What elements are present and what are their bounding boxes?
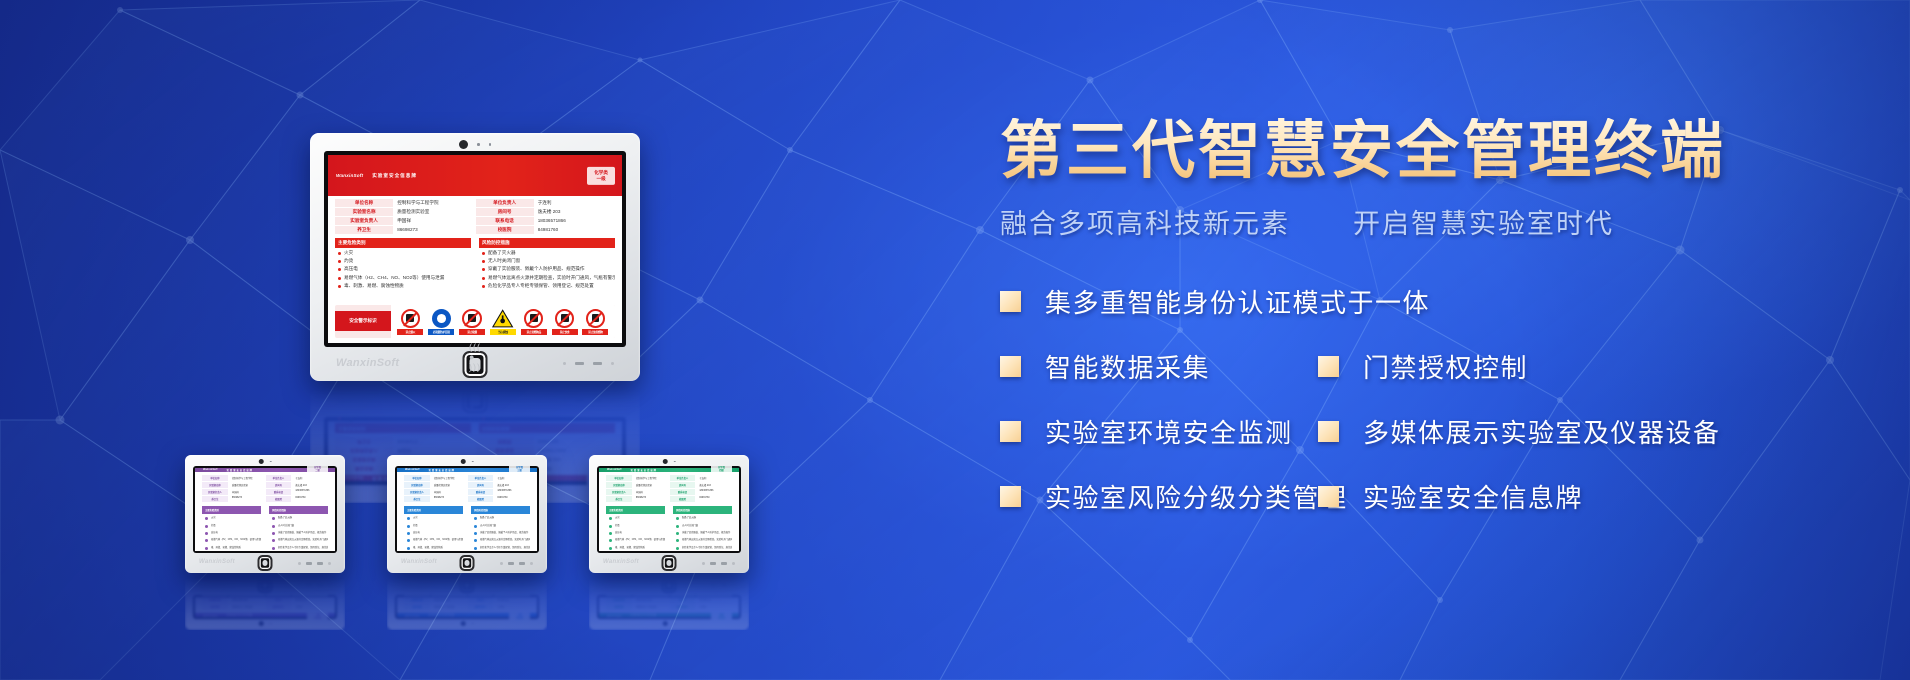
badge-category: 化学类 bbox=[718, 467, 725, 469]
table-key: 校医院 bbox=[670, 496, 696, 502]
list-bullet-icon bbox=[205, 539, 208, 542]
tablet-frame: WanxinSoft实验室安全信息牌化学类三级单位名称控制科学与工程学院单位负责… bbox=[387, 575, 547, 630]
list-item: 配备了灭火器 bbox=[673, 514, 732, 521]
prohibition-sign-icon bbox=[401, 309, 420, 328]
sign-caption: 必须戴防护目镜 bbox=[428, 329, 454, 335]
board-brand: WanxinSoft bbox=[203, 469, 218, 471]
table-key: 实验室负责人 bbox=[404, 489, 430, 495]
badge-category: 化学类 bbox=[516, 616, 523, 618]
nfc-indicator-icon: ((( ● ))) bbox=[469, 392, 481, 422]
list-bullet-icon bbox=[407, 547, 410, 550]
list-bullet-icon bbox=[407, 525, 410, 528]
table-key: 房间号 bbox=[468, 597, 494, 603]
column-title: 主要危险类别 bbox=[335, 423, 471, 433]
safety-board: WanxinSoft实验室安全信息牌化学类三级单位名称控制科学与工程学院单位负责… bbox=[397, 468, 537, 551]
list-bullet-icon bbox=[272, 525, 275, 528]
bezel-brand-logo: WanxinSoft bbox=[199, 559, 235, 565]
badge-level: 二级 bbox=[315, 470, 320, 472]
list-bullet-icon bbox=[609, 547, 612, 550]
table-value: 申国祥 bbox=[229, 595, 265, 596]
board-title: 实验室安全信息牌 bbox=[429, 468, 455, 472]
table-value: 控制科学与工程学院 bbox=[431, 475, 467, 481]
table-key: 联系电话 bbox=[476, 446, 534, 454]
list-item: 易燃气体远离点火源并定期检查，实验时开门通风，气瓶有警示、定期检查 bbox=[479, 273, 615, 281]
bezel-brand-logo: WanxinSoft bbox=[401, 583, 437, 589]
table-row: 实验室负责人申国祥联系电话18036571866 bbox=[202, 489, 328, 495]
safety-board: WanxinSoft实验室安全信息牌化学类二级单位名称控制科学与工程学院单位负责… bbox=[195, 468, 335, 551]
table-key: 实验室负责人 bbox=[606, 595, 632, 596]
list-bullet-icon bbox=[272, 517, 275, 520]
table-key: 实验室负责人 bbox=[202, 489, 228, 495]
badge-level: 一级 bbox=[597, 176, 606, 181]
front-camera bbox=[461, 621, 474, 626]
board-column: 主要危险类别火灾灼烫高压电易燃气体（H2、CH4、NO、NO2等）使用与泄漏毒、… bbox=[404, 506, 463, 551]
badge-level: 三级 bbox=[517, 613, 522, 615]
board-info-table: 单位名称控制科学与工程学院单位负责人于连利实验室名称质量检测实验室房间号逸夫楼 … bbox=[328, 196, 622, 236]
table-row: 实验室负责人申国祥联系电话18036571866 bbox=[335, 446, 615, 454]
bezel-brand-logo: WanxinSoft bbox=[336, 357, 399, 369]
list-bullet-icon bbox=[338, 277, 341, 280]
table-value: 于连利 bbox=[494, 604, 530, 610]
bullet-square-icon bbox=[1318, 356, 1339, 377]
sign-graphic bbox=[428, 308, 454, 329]
tablet-bottom-bezel: WanxinSoft bbox=[185, 575, 345, 595]
table-value: 逸夫楼 203 bbox=[292, 482, 328, 488]
tablet-screen[interactable]: WanxinSoft实验室安全信息牌化学类一级单位名称控制科学与工程学院单位负责… bbox=[324, 151, 626, 347]
list-bullet-icon bbox=[482, 277, 485, 280]
port-indicators bbox=[563, 362, 614, 365]
list-item: 无人时关闭门窗 bbox=[479, 257, 615, 265]
table-value: 于连利 bbox=[696, 604, 732, 610]
camera-lens-icon bbox=[259, 621, 264, 626]
table-key: 房间号 bbox=[670, 597, 696, 603]
column-title: 风险防控措施 bbox=[471, 506, 530, 514]
tablet-bottom-bezel: WanxinSoft ((( ● ))) bbox=[310, 383, 640, 417]
table-key: 实验室名称 bbox=[404, 597, 430, 603]
home-button[interactable] bbox=[460, 577, 475, 593]
badge-category: 化学类 bbox=[314, 467, 321, 469]
board-columns: 主要危险类别火灾灼烫高压电易燃气体（H2、CH4、NO、NO2等）使用与泄漏毒、… bbox=[328, 417, 622, 435]
table-key: 实验室名称 bbox=[202, 482, 228, 488]
board-level-badge: 化学类三级 bbox=[509, 466, 530, 476]
list-item: 毒、刺激、易燃、腐蚀性物质 bbox=[202, 544, 261, 551]
feature-item: 门禁授权控制 bbox=[1318, 348, 1528, 385]
table-value: 控制科学与工程学院 bbox=[431, 604, 467, 610]
table-value: 于连利 bbox=[535, 199, 615, 207]
safety-sign: 当心腐蚀 bbox=[490, 308, 516, 335]
board-columns: 主要危险类别火灾灼烫高压电易燃气体（H2、CH4、NO、NO2等）使用与泄漏毒、… bbox=[195, 504, 335, 551]
list-bullet-icon bbox=[482, 268, 485, 271]
feature-row: 集多重智能身份认证模式于一体 bbox=[1000, 283, 1880, 320]
list-bullet-icon bbox=[482, 417, 485, 420]
camera-lens-icon bbox=[459, 140, 468, 149]
board-title: 实验室安全信息牌 bbox=[631, 613, 657, 617]
thumbnail-tablet-3: WanxinSoft实验室安全信息牌化学类四级单位名称控制科学与工程学院单位负责… bbox=[589, 455, 749, 573]
list-item: 易燃气体远离点火源并定期检查，实验时开门通风，气瓶有警示、定期检查 bbox=[269, 536, 328, 543]
bullet-square-icon bbox=[1000, 421, 1021, 442]
table-row: 实验室负责人申国祥联系电话18036571866 bbox=[606, 595, 732, 596]
table-key: 房间号 bbox=[670, 482, 696, 488]
table-key: 校医院 bbox=[476, 437, 534, 445]
badge-level: 四级 bbox=[719, 613, 724, 615]
prohibition-sign-icon bbox=[586, 309, 605, 328]
table-row: 单位名称控制科学与工程学院单位负责人于连利 bbox=[606, 604, 732, 610]
table-key: 实验室负责人 bbox=[404, 595, 430, 596]
sensor-dot-icon bbox=[674, 461, 676, 463]
nfc-indicator-icon: ((( ● ))) bbox=[469, 342, 481, 372]
table-key: 单位名称 bbox=[202, 604, 228, 610]
tablet-frame: WanxinSoft实验室安全信息牌化学类三级单位名称控制科学与工程学院单位负责… bbox=[387, 455, 547, 573]
sensor-dot-icon bbox=[477, 143, 480, 146]
thumbnail-tablet-3-reflection: WanxinSoft实验室安全信息牌化学类四级单位名称控制科学与工程学院单位负责… bbox=[589, 575, 749, 630]
home-button[interactable] bbox=[460, 555, 475, 571]
table-row: 养卫生86698273校医院84981760 bbox=[335, 226, 615, 234]
board-info-table: 单位名称控制科学与工程学院单位负责人于连利实验室名称质量检测实验室房间号逸夫楼 … bbox=[195, 472, 335, 504]
table-key: 实验室负责人 bbox=[606, 489, 632, 495]
sign-caption: 禁止易燃物品 bbox=[521, 329, 547, 335]
bullet-square-icon bbox=[1000, 356, 1021, 377]
bullet-square-icon bbox=[1318, 421, 1339, 442]
column-title: 主要危险类别 bbox=[335, 238, 471, 248]
feature-row: 实验室环境安全监测 多媒体展示实验室及仪器设备 bbox=[1000, 413, 1880, 450]
tablet-frame: WanxinSoft实验室安全信息牌化学类二级单位名称控制科学与工程学院单位负责… bbox=[185, 455, 345, 573]
list-item: 火灾 bbox=[606, 514, 665, 521]
list-bullet-icon bbox=[609, 539, 612, 542]
table-key: 实验室名称 bbox=[606, 482, 632, 488]
list-item: 无人时关闭门窗 bbox=[673, 521, 732, 528]
board-title: 实验室安全信息牌 bbox=[631, 468, 657, 472]
badge-level: 四级 bbox=[719, 470, 724, 472]
sign-caption: 当心腐蚀 bbox=[490, 329, 516, 335]
port-indicators bbox=[298, 562, 331, 565]
list-item: 火灾 bbox=[404, 514, 463, 521]
sign-caption: 禁止烟火 bbox=[397, 329, 423, 335]
table-value: 质量检测实验室 bbox=[431, 597, 467, 603]
board-columns: 主要危险类别火灾灼烫高压电易燃气体（H2、CH4、NO、NO2等）使用与泄漏毒、… bbox=[328, 236, 622, 302]
table-key: 养卫生 bbox=[404, 496, 430, 502]
board-info-table: 单位名称控制科学与工程学院单位负责人于连利实验室名称质量检测实验室房间号逸夫楼 … bbox=[195, 595, 335, 613]
list-bullet-icon bbox=[338, 285, 341, 288]
table-value: 84981760 bbox=[535, 437, 615, 445]
bullet-square-icon bbox=[1000, 486, 1021, 507]
home-button[interactable] bbox=[258, 577, 273, 593]
safety-sign: 禁止放易燃物 bbox=[582, 308, 608, 335]
feature-label: 智能数据采集 bbox=[1045, 348, 1210, 385]
list-item: 配备了灭火器 bbox=[479, 417, 615, 423]
board-level-badge: 化学类一级 bbox=[587, 166, 615, 184]
badge-category: 化学类 bbox=[718, 616, 725, 618]
home-button[interactable] bbox=[662, 577, 677, 593]
safety-board: WanxinSoft实验室安全信息牌化学类四级单位名称控制科学与工程学院单位负责… bbox=[599, 468, 739, 551]
sensor-dot-icon bbox=[472, 461, 474, 463]
list-item: 易燃气体（H2、CH4、NO、NO2等）使用与泄漏 bbox=[335, 273, 471, 281]
list-bullet-icon bbox=[205, 532, 208, 535]
table-value: 申国祥 bbox=[431, 489, 467, 495]
list-bullet-icon bbox=[474, 525, 477, 528]
table-key: 联系电话 bbox=[468, 489, 494, 495]
list-item: 易燃气体远离点火源并定期检查，实验时开门通风，气瓶有警示、定期检查 bbox=[673, 536, 732, 543]
table-value: 84981760 bbox=[696, 496, 732, 502]
list-item: 毒、刺激、易燃、腐蚀性物质 bbox=[606, 544, 665, 551]
list-bullet-icon bbox=[272, 547, 275, 550]
table-key: 单位负责人 bbox=[468, 475, 494, 481]
column-title: 主要危险类别 bbox=[606, 506, 665, 514]
board-brand: WanxinSoft bbox=[405, 614, 420, 616]
safety-board: WanxinSoft实验室安全信息牌化学类一级单位名称控制科学与工程学院单位负责… bbox=[328, 155, 622, 343]
tablet-screen[interactable]: WanxinSoft实验室安全信息牌化学类四级单位名称控制科学与工程学院单位负责… bbox=[597, 466, 741, 553]
table-key: 房间号 bbox=[266, 482, 292, 488]
table-value: 质量检测实验室 bbox=[431, 482, 467, 488]
sensor-dot-icon bbox=[489, 143, 492, 146]
table-value: 质量检测实验室 bbox=[229, 597, 265, 603]
list-bullet-icon bbox=[482, 252, 485, 255]
table-value: 逸夫楼 203 bbox=[696, 597, 732, 603]
sign-graphic bbox=[552, 308, 578, 329]
table-value: 逸夫楼 203 bbox=[696, 482, 732, 488]
list-item: 穿戴了实验服装、佩戴个人防护用品、规范操作 bbox=[673, 529, 732, 536]
table-value: 逸夫楼 203 bbox=[494, 482, 530, 488]
table-row: 养卫生86698273校医院84981760 bbox=[606, 496, 732, 502]
list-bullet-icon bbox=[205, 525, 208, 528]
bezel-brand-logo: WanxinSoft bbox=[603, 583, 639, 589]
table-key: 单位名称 bbox=[606, 604, 632, 610]
list-item: 易燃气体（H2、CH4、NO、NO2等）使用与泄漏 bbox=[202, 536, 261, 543]
table-row: 单位名称控制科学与工程学院单位负责人于连利 bbox=[202, 604, 328, 610]
board-level-badge: 化学类二级 bbox=[307, 609, 328, 619]
tablet-screen[interactable]: WanxinSoft实验室安全信息牌化学类二级单位名称控制科学与工程学院单位负责… bbox=[193, 595, 337, 619]
home-button[interactable]: ((( ● ))) bbox=[463, 386, 488, 413]
column-title: 风险防控措施 bbox=[673, 506, 732, 514]
table-key: 实验室名称 bbox=[202, 597, 228, 603]
table-key: 单位名称 bbox=[202, 475, 228, 481]
feature-item: 多媒体展示实验室及仪器设备 bbox=[1318, 413, 1721, 450]
tablet-screen[interactable]: WanxinSoft实验室安全信息牌化学类二级单位名称控制科学与工程学院单位负责… bbox=[193, 466, 337, 553]
table-key: 养卫生 bbox=[335, 437, 393, 445]
table-row: 实验室负责人申国祥联系电话18036571866 bbox=[606, 489, 732, 495]
safety-sign: 禁止易燃物品 bbox=[521, 308, 547, 335]
table-value: 控制科学与工程学院 bbox=[229, 604, 265, 610]
list-bullet-icon bbox=[474, 539, 477, 542]
sign-caption: 禁止饮食 bbox=[552, 329, 578, 335]
list-bullet-icon bbox=[474, 547, 477, 550]
feature-label: 实验室风险分级分类管理 bbox=[1045, 478, 1348, 515]
sensor-dot-icon bbox=[472, 623, 474, 625]
board-title: 实验室安全信息牌 bbox=[227, 613, 253, 617]
prohibition-sign-icon bbox=[524, 309, 543, 328]
home-button[interactable] bbox=[258, 555, 273, 571]
tablet-bottom-bezel: WanxinSoft bbox=[185, 553, 345, 573]
list-bullet-icon bbox=[482, 285, 485, 288]
table-key: 实验室负责人 bbox=[335, 217, 393, 225]
list-item: 无人时关闭门窗 bbox=[269, 521, 328, 528]
table-value: 18036571866 bbox=[696, 595, 732, 596]
feature-item: 集多重智能身份认证模式于一体 bbox=[1000, 283, 1430, 320]
board-title: 实验室安全信息牌 bbox=[227, 468, 253, 472]
list-item: 易燃气体远离点火源并定期检查，实验时开门通风，气瓶有警示、定期检查 bbox=[471, 536, 530, 543]
camera-lens-icon bbox=[663, 459, 668, 464]
list-bullet-icon bbox=[338, 260, 341, 263]
feature-label: 多媒体展示实验室及仪器设备 bbox=[1363, 413, 1721, 450]
board-header: WanxinSoft实验室安全信息牌化学类三级 bbox=[397, 613, 537, 617]
feature-item: 实验室安全信息牌 bbox=[1318, 478, 1583, 515]
table-key: 养卫生 bbox=[606, 496, 632, 502]
table-value: 申国祥 bbox=[633, 489, 669, 495]
board-info-table: 单位名称控制科学与工程学院单位负责人于连利实验室名称质量检测实验室房间号逸夫楼 … bbox=[397, 595, 537, 613]
list-bullet-icon bbox=[205, 547, 208, 550]
list-bullet-icon bbox=[205, 517, 208, 520]
tablet-screen[interactable]: WanxinSoft实验室安全信息牌化学类四级单位名称控制科学与工程学院单位负责… bbox=[597, 595, 741, 619]
board-level-badge: 化学类四级 bbox=[711, 609, 732, 619]
board-level-badge: 化学类二级 bbox=[307, 466, 328, 476]
list-bullet-icon bbox=[676, 532, 679, 535]
tablet-frame: WanxinSoft实验室安全信息牌化学类四级单位名称控制科学与工程学院单位负责… bbox=[589, 575, 749, 630]
tablet-bottom-bezel: WanxinSoft bbox=[589, 575, 749, 595]
board-brand: WanxinSoft bbox=[405, 469, 420, 471]
list-bullet-icon bbox=[272, 532, 275, 535]
table-key: 实验室名称 bbox=[335, 208, 393, 216]
table-row: 实验室负责人申国祥联系电话18036571866 bbox=[335, 217, 615, 225]
table-key: 房间号 bbox=[266, 597, 292, 603]
list-item: 危险化学品专人专柜专锁保管、领用登记、规范处置 bbox=[471, 544, 530, 551]
front-camera bbox=[461, 459, 474, 464]
thumbnail-tablet-2-reflection: WanxinSoft实验室安全信息牌化学类三级单位名称控制科学与工程学院单位负责… bbox=[387, 575, 547, 630]
port-indicators bbox=[702, 583, 735, 586]
tablet-screen[interactable]: WanxinSoft实验室安全信息牌化学类三级单位名称控制科学与工程学院单位负责… bbox=[395, 595, 539, 619]
hero-banner: WanxinSoft实验室安全信息牌化学类一级单位名称控制科学与工程学院单位负责… bbox=[0, 0, 1910, 680]
safety-sign: 禁止烟火 bbox=[397, 308, 423, 335]
table-value: 于连利 bbox=[292, 604, 328, 610]
column-title: 风险防控措施 bbox=[269, 506, 328, 514]
table-key: 单位负责人 bbox=[476, 199, 534, 207]
table-value: 逸夫楼 203 bbox=[535, 208, 615, 216]
table-key: 联系电话 bbox=[670, 489, 696, 495]
safety-sign: 禁止吸烟 bbox=[459, 308, 485, 335]
list-item: 配备了灭火器 bbox=[471, 514, 530, 521]
table-key: 实验室负责人 bbox=[335, 446, 393, 454]
bullet-square-icon bbox=[1318, 486, 1339, 507]
list-item: 易燃气体（H2、CH4、NO、NO2等）使用与泄漏 bbox=[404, 536, 463, 543]
table-value: 逸夫楼 203 bbox=[494, 597, 530, 603]
camera-lens-icon bbox=[461, 621, 466, 626]
port-indicators bbox=[702, 562, 735, 565]
bezel-brand-logo: WanxinSoft bbox=[603, 559, 639, 565]
board-brand: WanxinSoft bbox=[607, 614, 622, 616]
bezel-brand-logo: WanxinSoft bbox=[336, 395, 399, 407]
board-header: WanxinSoft实验室安全信息牌化学类四级 bbox=[599, 613, 739, 617]
subtitle-right: 开启智慧实验室时代 bbox=[1353, 209, 1614, 239]
list-bullet-icon bbox=[482, 260, 485, 263]
list-item: 火灾 bbox=[335, 417, 471, 423]
table-value: 86698273 bbox=[431, 496, 467, 502]
table-value: 18036571866 bbox=[494, 595, 530, 596]
feature-item: 智能数据采集 bbox=[1000, 348, 1318, 385]
board-header: WanxinSoft实验室安全信息牌化学类三级 bbox=[397, 468, 537, 472]
table-key: 单位名称 bbox=[606, 475, 632, 481]
home-button[interactable]: ((( ● ))) bbox=[463, 351, 488, 378]
warning-triangle-icon bbox=[492, 309, 513, 328]
table-value: 18036571866 bbox=[535, 217, 615, 225]
board-column: 风险防控措施配备了灭火器无人时关闭门窗穿戴了实验服装、佩戴个人防护用品、规范操作… bbox=[479, 417, 615, 433]
list-item: 配备了灭火器 bbox=[269, 514, 328, 521]
thumbnail-tablet-1: WanxinSoft实验室安全信息牌化学类二级单位名称控制科学与工程学院单位负责… bbox=[185, 455, 345, 573]
list-item: 高压电 bbox=[606, 529, 665, 536]
list-item: 高压电 bbox=[404, 529, 463, 536]
board-column: 主要危险类别火灾灼烫高压电易燃气体（H2、CH4、NO、NO2等）使用与泄漏毒、… bbox=[335, 417, 471, 433]
list-bullet-icon bbox=[338, 268, 341, 271]
table-row: 实验室名称质量检测实验室房间号逸夫楼 203 bbox=[335, 208, 615, 216]
port-indicators bbox=[298, 583, 331, 586]
tablet-bottom-bezel: WanxinSoft bbox=[387, 575, 547, 595]
list-item: 毒、刺激、易燃、腐蚀性物质 bbox=[335, 282, 471, 290]
list-bullet-icon bbox=[407, 539, 410, 542]
board-columns: 主要危险类别火灾灼烫高压电易燃气体（H2、CH4、NO、NO2等）使用与泄漏毒、… bbox=[599, 504, 739, 551]
page-title: 第三代智慧安全管理终端 bbox=[1000, 118, 1880, 184]
table-value: 申国祥 bbox=[229, 489, 265, 495]
board-brand: WanxinSoft bbox=[336, 173, 363, 178]
table-value: 84981760 bbox=[535, 226, 615, 234]
table-value: 质量检测实验室 bbox=[229, 482, 265, 488]
list-item: 危险化学品专人专柜专锁保管、领用登记、规范处置 bbox=[269, 544, 328, 551]
sensor-dot-icon bbox=[270, 623, 272, 625]
table-key: 养卫生 bbox=[202, 496, 228, 502]
tablet-bottom-bezel: WanxinSoft bbox=[387, 553, 547, 573]
board-column: 风险防控措施配备了灭火器无人时关闭门窗穿戴了实验服装、佩戴个人防护用品、规范操作… bbox=[479, 238, 615, 302]
list-bullet-icon bbox=[676, 539, 679, 542]
table-key: 单位名称 bbox=[404, 475, 430, 481]
list-item: 穿戴了实验服装、佩戴个人防护用品、规范操作 bbox=[479, 265, 615, 273]
board-column: 主要危险类别火灾灼烫高压电易燃气体（H2、CH4、NO、NO2等）使用与泄漏毒、… bbox=[335, 238, 471, 302]
table-value: 控制科学与工程学院 bbox=[394, 199, 474, 207]
subtitle-left: 融合多项高科技新元素 bbox=[1000, 209, 1290, 239]
board-level-badge: 化学类三级 bbox=[509, 609, 530, 619]
list-item: 配备了灭火器 bbox=[479, 248, 615, 256]
port-indicators bbox=[563, 399, 614, 402]
table-value: 控制科学与工程学院 bbox=[229, 475, 265, 481]
feature-label: 门禁授权控制 bbox=[1363, 348, 1528, 385]
tablet-frame: WanxinSoft实验室安全信息牌化学类一级单位名称控制科学与工程学院单位负责… bbox=[310, 133, 640, 381]
board-column: 主要危险类别火灾灼烫高压电易燃气体（H2、CH4、NO、NO2等）使用与泄漏毒、… bbox=[606, 506, 665, 551]
badge-category: 化学类 bbox=[314, 616, 321, 618]
board-column: 主要危险类别火灾灼烫高压电易燃气体（H2、CH4、NO、NO2等）使用与泄漏毒、… bbox=[202, 506, 261, 551]
table-key: 单位名称 bbox=[335, 199, 393, 207]
table-value: 申国祥 bbox=[431, 595, 467, 596]
table-value: 质量检测实验室 bbox=[633, 482, 669, 488]
tablet-screen[interactable]: WanxinSoft实验室安全信息牌化学类三级单位名称控制科学与工程学院单位负责… bbox=[395, 466, 539, 553]
table-row: 实验室负责人申国祥联系电话18036571866 bbox=[404, 489, 530, 495]
list-item: 火灾 bbox=[335, 248, 471, 256]
board-header: WanxinSoft实验室安全信息牌化学类二级 bbox=[195, 613, 335, 617]
table-value: 86698273 bbox=[633, 496, 669, 502]
table-value: 86698273 bbox=[394, 226, 474, 234]
tablet-frame: WanxinSoft实验室安全信息牌化学类二级单位名称控制科学与工程学院单位负责… bbox=[185, 575, 345, 630]
front-camera bbox=[259, 621, 272, 626]
list-bullet-icon bbox=[474, 532, 477, 535]
table-key: 房间号 bbox=[476, 208, 534, 216]
board-brand: WanxinSoft bbox=[607, 469, 622, 471]
feature-item: 实验室环境安全监测 bbox=[1000, 413, 1318, 450]
tablet-frame: WanxinSoft实验室安全信息牌化学类四级单位名称控制科学与工程学院单位负责… bbox=[589, 455, 749, 573]
port-indicators bbox=[500, 562, 533, 565]
front-camera bbox=[459, 140, 491, 149]
list-item: 无人时关闭门窗 bbox=[471, 521, 530, 528]
home-button[interactable] bbox=[662, 555, 677, 571]
safety-board: WanxinSoft实验室安全信息牌化学类四级单位名称控制科学与工程学院单位负责… bbox=[599, 597, 739, 617]
list-item: 火灾 bbox=[202, 514, 261, 521]
list-bullet-icon bbox=[676, 547, 679, 550]
thumbnail-tablet-2: WanxinSoft实验室安全信息牌化学类三级单位名称控制科学与工程学院单位负责… bbox=[387, 455, 547, 573]
mandatory-sign-icon bbox=[432, 309, 451, 328]
list-bullet-icon bbox=[609, 517, 612, 520]
